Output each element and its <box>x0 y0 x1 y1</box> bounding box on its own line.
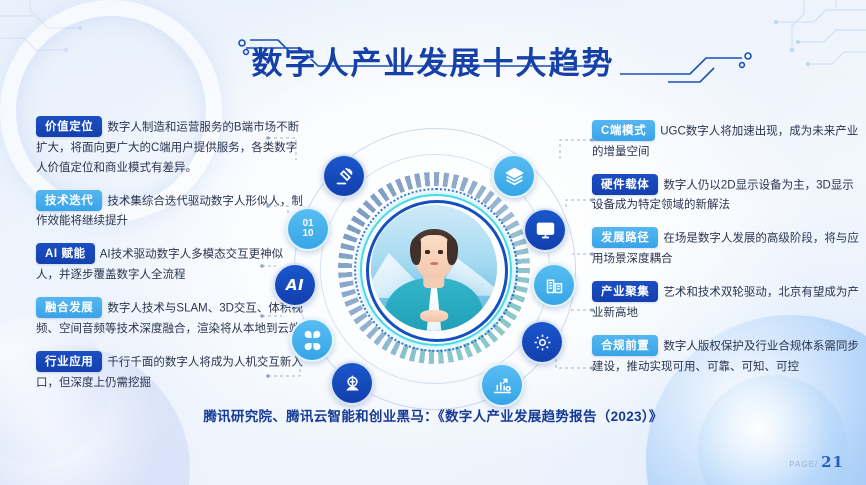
list-item: 硬件载体数字人仍以2D显示设备为主，3D显示设备成为特定领域的新解法 <box>592 174 860 216</box>
avatar-hair-side-left <box>410 238 421 266</box>
list-item: 产业聚集艺术和技术双轮驱动，北京有望成为产业新高地 <box>592 281 860 323</box>
node-robot[interactable] <box>330 361 374 405</box>
building-icon <box>544 275 565 296</box>
node-cluster[interactable] <box>290 318 334 362</box>
ai-icon: AI <box>286 276 304 294</box>
node-ai[interactable]: AI <box>273 263 317 307</box>
page-title: 数字人产业发展十大趋势 <box>252 38 615 83</box>
node-binary[interactable]: 0110 <box>286 207 330 251</box>
list-item: AI 赋能AI技术驱动数字人多模态交互更神似人，并逐步覆盖数字人全流程 <box>36 243 304 285</box>
node-growth-chart[interactable] <box>480 363 524 407</box>
item-badge: 发展路径 <box>592 227 658 248</box>
item-badge: 产业聚集 <box>592 281 658 302</box>
layers-icon <box>504 166 525 187</box>
item-badge: 技术迭代 <box>36 190 102 211</box>
digital-human-avatar <box>371 205 497 331</box>
list-item: 价值定位数字人制造和运营服务的B端市场不断扩大，将面向更广大的C端用户提供服务，… <box>36 116 304 178</box>
item-badge: 价值定位 <box>36 116 102 137</box>
slide-canvas: 数字人产业发展十大趋势 价值定位数字人制造和运营服务的B端市场不断扩大，将面向更… <box>0 0 866 485</box>
item-badge: 合规前置 <box>592 335 658 356</box>
monitor-icon <box>535 220 556 241</box>
item-badge: 硬件载体 <box>592 174 658 195</box>
node-gear[interactable] <box>520 320 564 364</box>
list-item: C端模式UGC数字人将加速出现，成为未来产业的增量空间 <box>592 120 860 162</box>
title-area: 数字人产业发展十大趋势 <box>0 30 866 90</box>
avatar-eye-right <box>438 250 443 253</box>
central-diagram: 0110 AI <box>268 128 600 410</box>
page-indicator: PAGE/21 <box>789 453 844 471</box>
node-building[interactable] <box>532 263 576 307</box>
item-badge: 融合发展 <box>36 297 102 318</box>
left-items-column: 价值定位数字人制造和运营服务的B端市场不断扩大，将面向更广大的C端用户提供服务，… <box>36 116 304 405</box>
node-gavel[interactable] <box>322 154 366 198</box>
source-footer: 腾讯研究院、腾讯云智能和创业黑马：《数字人产业发展趋势报告（2023）》 <box>0 405 866 425</box>
page-label: PAGE/ <box>789 460 818 469</box>
list-item: 合规前置数字人版权保护及行业合规体系需同步建设，推动实现可用、可靠、可知、可控 <box>592 335 860 377</box>
growth-chart-icon <box>492 375 513 396</box>
list-item: 行业应用千行千面的数字人将成为人机交互新入口，但深度上仍需挖掘 <box>36 351 304 393</box>
avatar-mouth <box>430 262 438 265</box>
list-item: 技术迭代技术集综合迭代驱动数字人形似人，制作效能将继续提升 <box>36 190 304 232</box>
cluster-icon <box>302 330 323 351</box>
node-layers[interactable] <box>492 154 536 198</box>
node-monitor[interactable] <box>523 208 567 252</box>
item-badge: C端模式 <box>592 120 655 141</box>
avatar-eye-left <box>425 250 430 253</box>
robot-icon <box>342 373 363 394</box>
item-badge: AI 赋能 <box>36 243 95 264</box>
binary-icon: 0110 <box>302 219 313 239</box>
gavel-icon <box>334 166 355 187</box>
gear-icon <box>532 332 553 353</box>
item-badge: 行业应用 <box>36 351 102 372</box>
list-item: 发展路径在场是数字人发展的高级阶段，将与应用场景深度耦合 <box>592 227 860 269</box>
avatar-hands <box>420 310 448 323</box>
page-number: 21 <box>821 453 844 471</box>
list-item: 融合发展数字人技术与SLAM、3D交互、体积视频、空间音频等技术深度融合，渲染将… <box>36 297 304 339</box>
right-items-column: C端模式UGC数字人将加速出现，成为未来产业的增量空间 硬件载体数字人仍以2D显… <box>592 120 860 389</box>
